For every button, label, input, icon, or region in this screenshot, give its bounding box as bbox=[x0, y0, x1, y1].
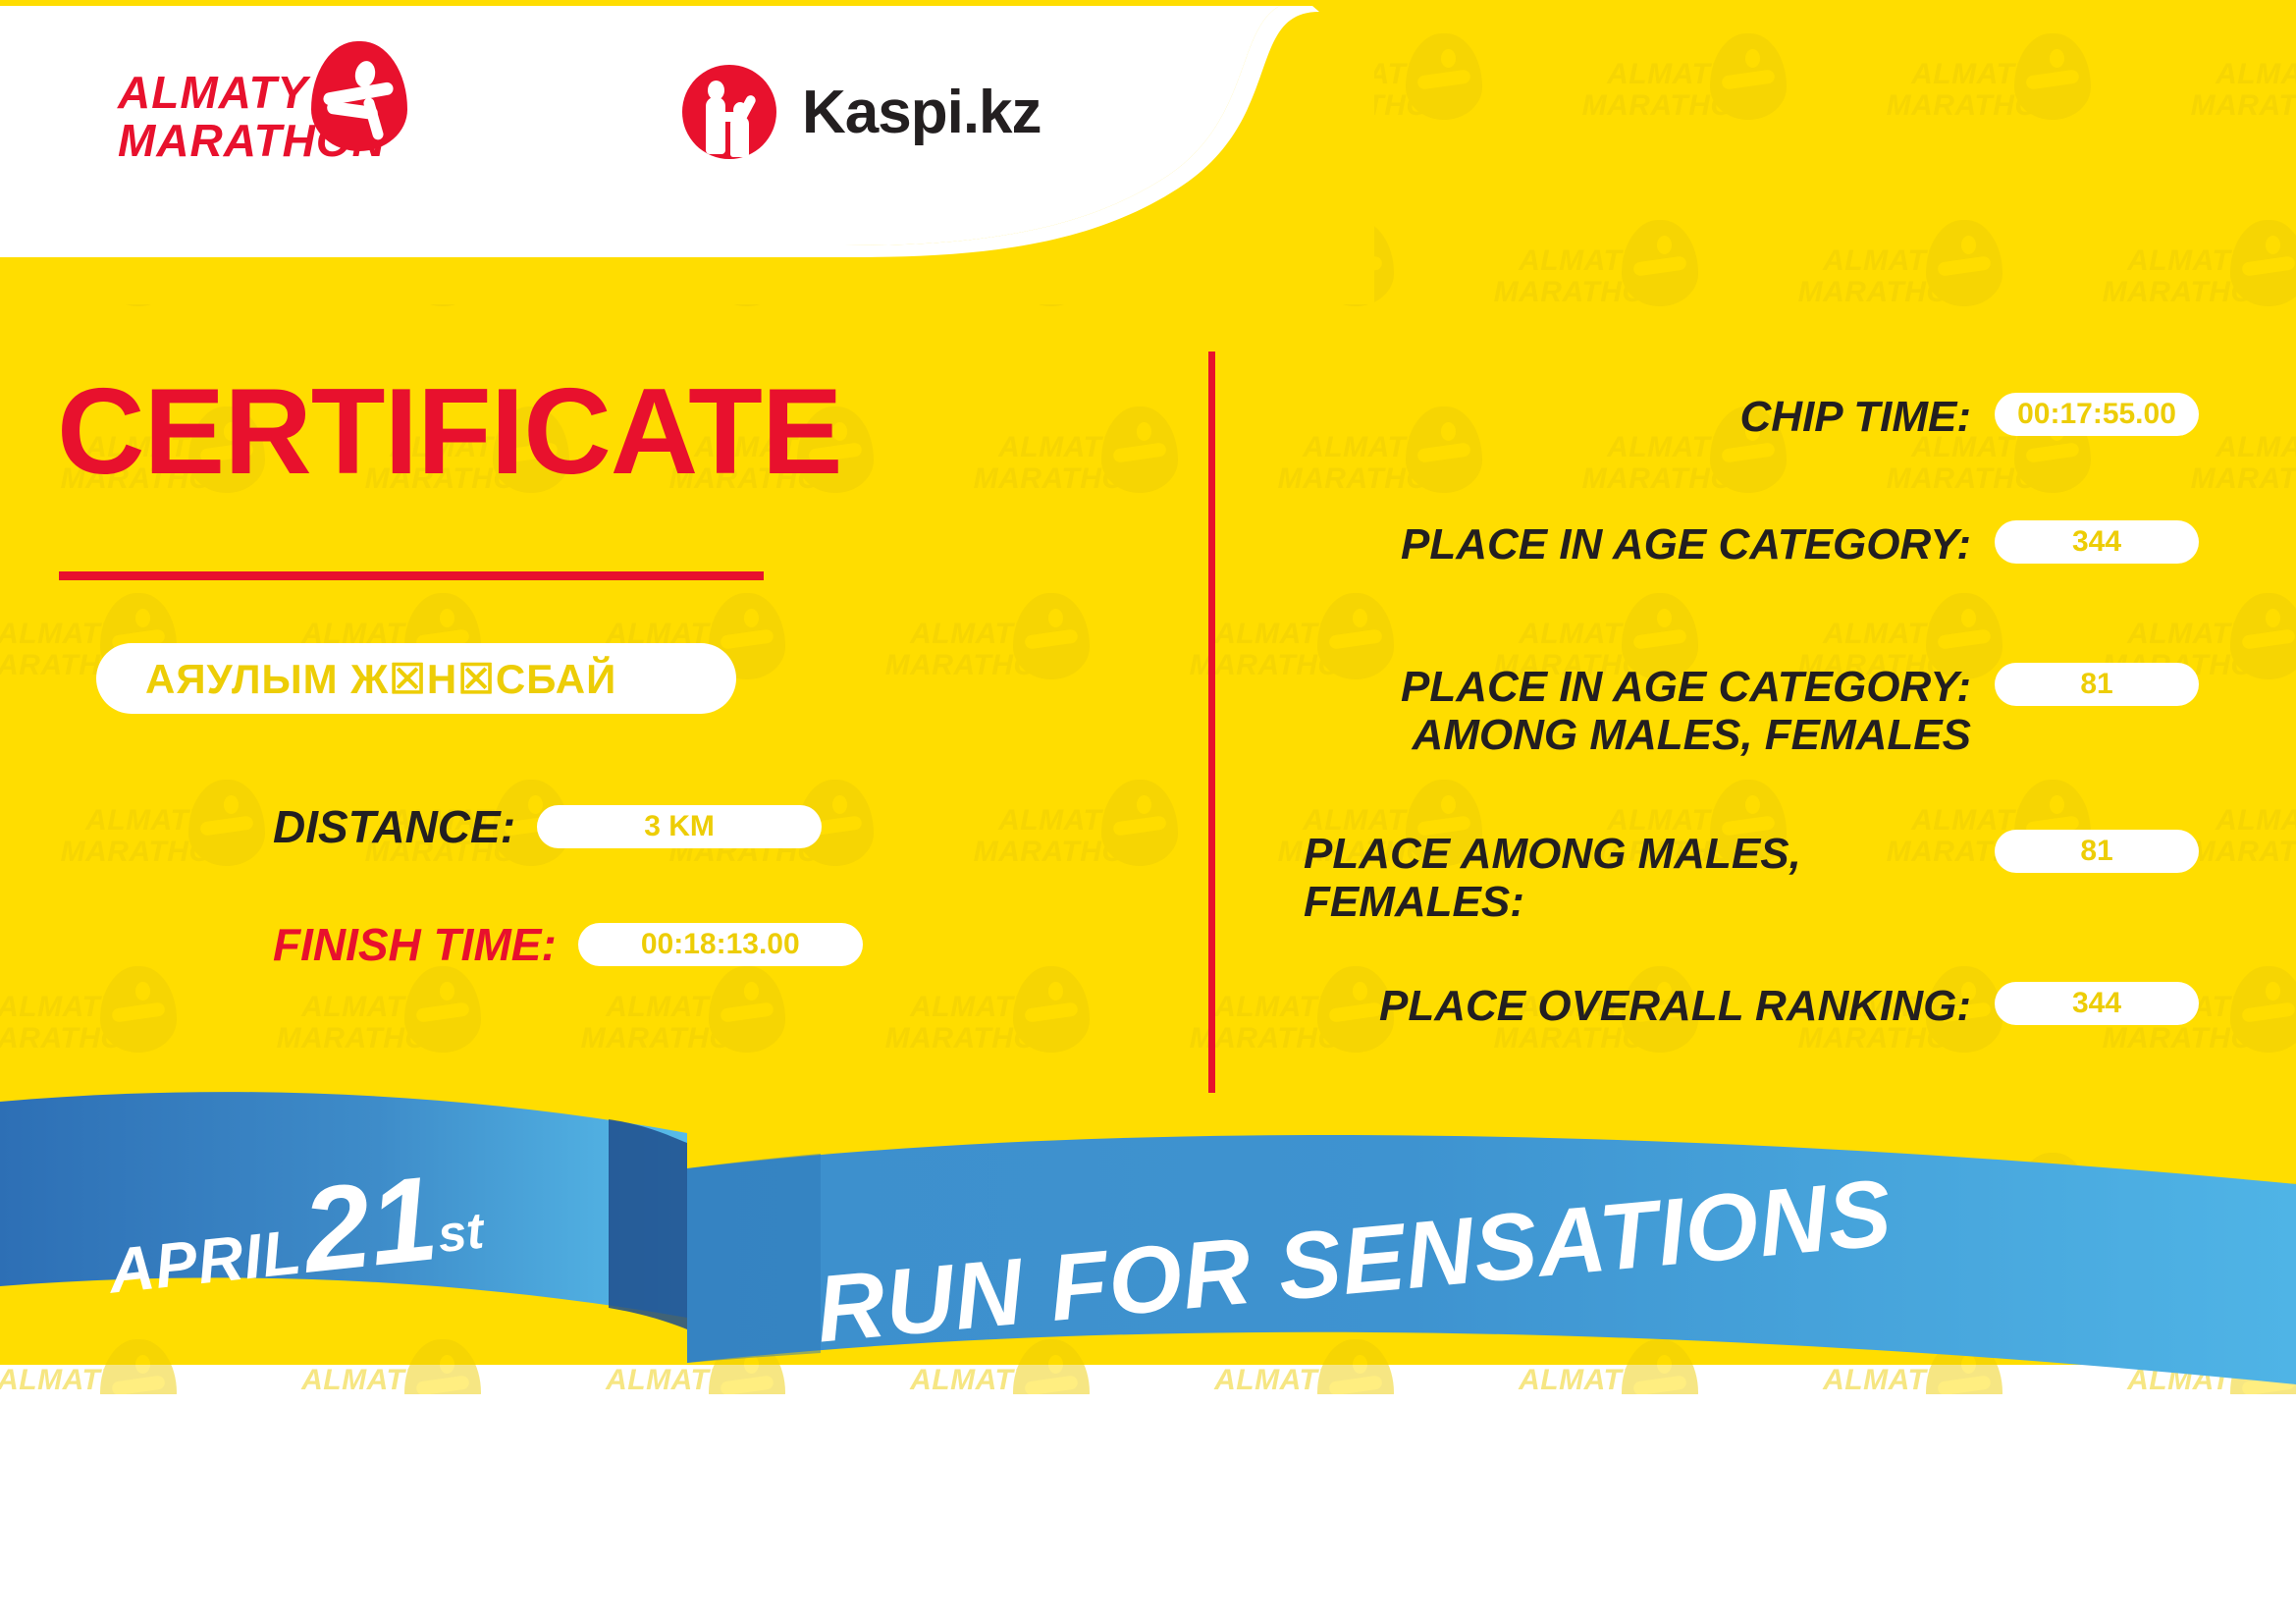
place-age-category-row: PLACE IN AGE CATEGORY: 344 bbox=[1304, 520, 2199, 568]
chip-time-row: CHIP TIME: 00:17:55.00 bbox=[1304, 393, 2199, 441]
place-age-category-gender-value: 81 bbox=[1995, 663, 2199, 706]
event-day-ordinal: st bbox=[435, 1203, 486, 1265]
place-among-gender-row: PLACE AMONG MALES, FEMALES: 81 bbox=[1304, 830, 2199, 927]
kaspi-logo: Kaspi.kz bbox=[682, 65, 1041, 159]
certificate-canvas: ALMATYMARATHONALMATYMARATHONALMATYMARATH… bbox=[0, 0, 2296, 1624]
place-overall-ranking-value: 344 bbox=[1995, 982, 2199, 1025]
kaspi-people-circle-icon bbox=[682, 65, 776, 159]
chip-time-label: CHIP TIME: bbox=[1740, 393, 1971, 441]
runner-drop-icon bbox=[311, 41, 407, 151]
column-divider bbox=[1208, 352, 1215, 1093]
place-age-category-gender-label: PLACE IN AGE CATEGORY: AMONG MALES, FEMA… bbox=[1401, 663, 1971, 760]
sponsor-strip bbox=[0, 1394, 2296, 1624]
top-yellow-strip bbox=[0, 0, 2296, 6]
almaty-marathon-logo: ALMATY MARATHON bbox=[118, 41, 442, 169]
finish-time-label: FINISH TIME: bbox=[273, 918, 557, 971]
chip-time-value: 00:17:55.00 bbox=[1995, 393, 2199, 436]
place-age-category-gender-row: PLACE IN AGE CATEGORY: AMONG MALES, FEMA… bbox=[1304, 663, 2199, 760]
title-underline bbox=[59, 571, 764, 580]
distance-row: DISTANCE: 3 KM bbox=[273, 800, 822, 853]
finish-time-value: 00:18:13.00 bbox=[578, 923, 863, 966]
kaspi-wordmark: Kaspi.kz bbox=[802, 78, 1041, 147]
place-overall-ranking-row: PLACE OVERALL RANKING: 344 bbox=[1304, 982, 2199, 1030]
participant-name-field: АЯУЛЫМ Ж☒Н☒СБАЙ bbox=[96, 643, 736, 714]
page-title: CERTIFICATE bbox=[57, 371, 842, 493]
place-among-gender-label: PLACE AMONG MALES, FEMALES: bbox=[1304, 830, 1801, 927]
finish-time-row: FINISH TIME: 00:18:13.00 bbox=[273, 918, 863, 971]
event-day: 21 bbox=[296, 1151, 443, 1297]
distance-value: 3 KM bbox=[537, 805, 822, 848]
almaty-logo-line1: ALMATY bbox=[118, 67, 308, 118]
place-overall-ranking-label: PLACE OVERALL RANKING: bbox=[1379, 982, 1971, 1030]
distance-label: DISTANCE: bbox=[273, 800, 515, 853]
place-age-category-value: 344 bbox=[1995, 520, 2199, 564]
place-among-gender-value: 81 bbox=[1995, 830, 2199, 873]
event-month: APRIL bbox=[105, 1217, 304, 1307]
place-age-category-label: PLACE IN AGE CATEGORY: bbox=[1401, 520, 1971, 568]
